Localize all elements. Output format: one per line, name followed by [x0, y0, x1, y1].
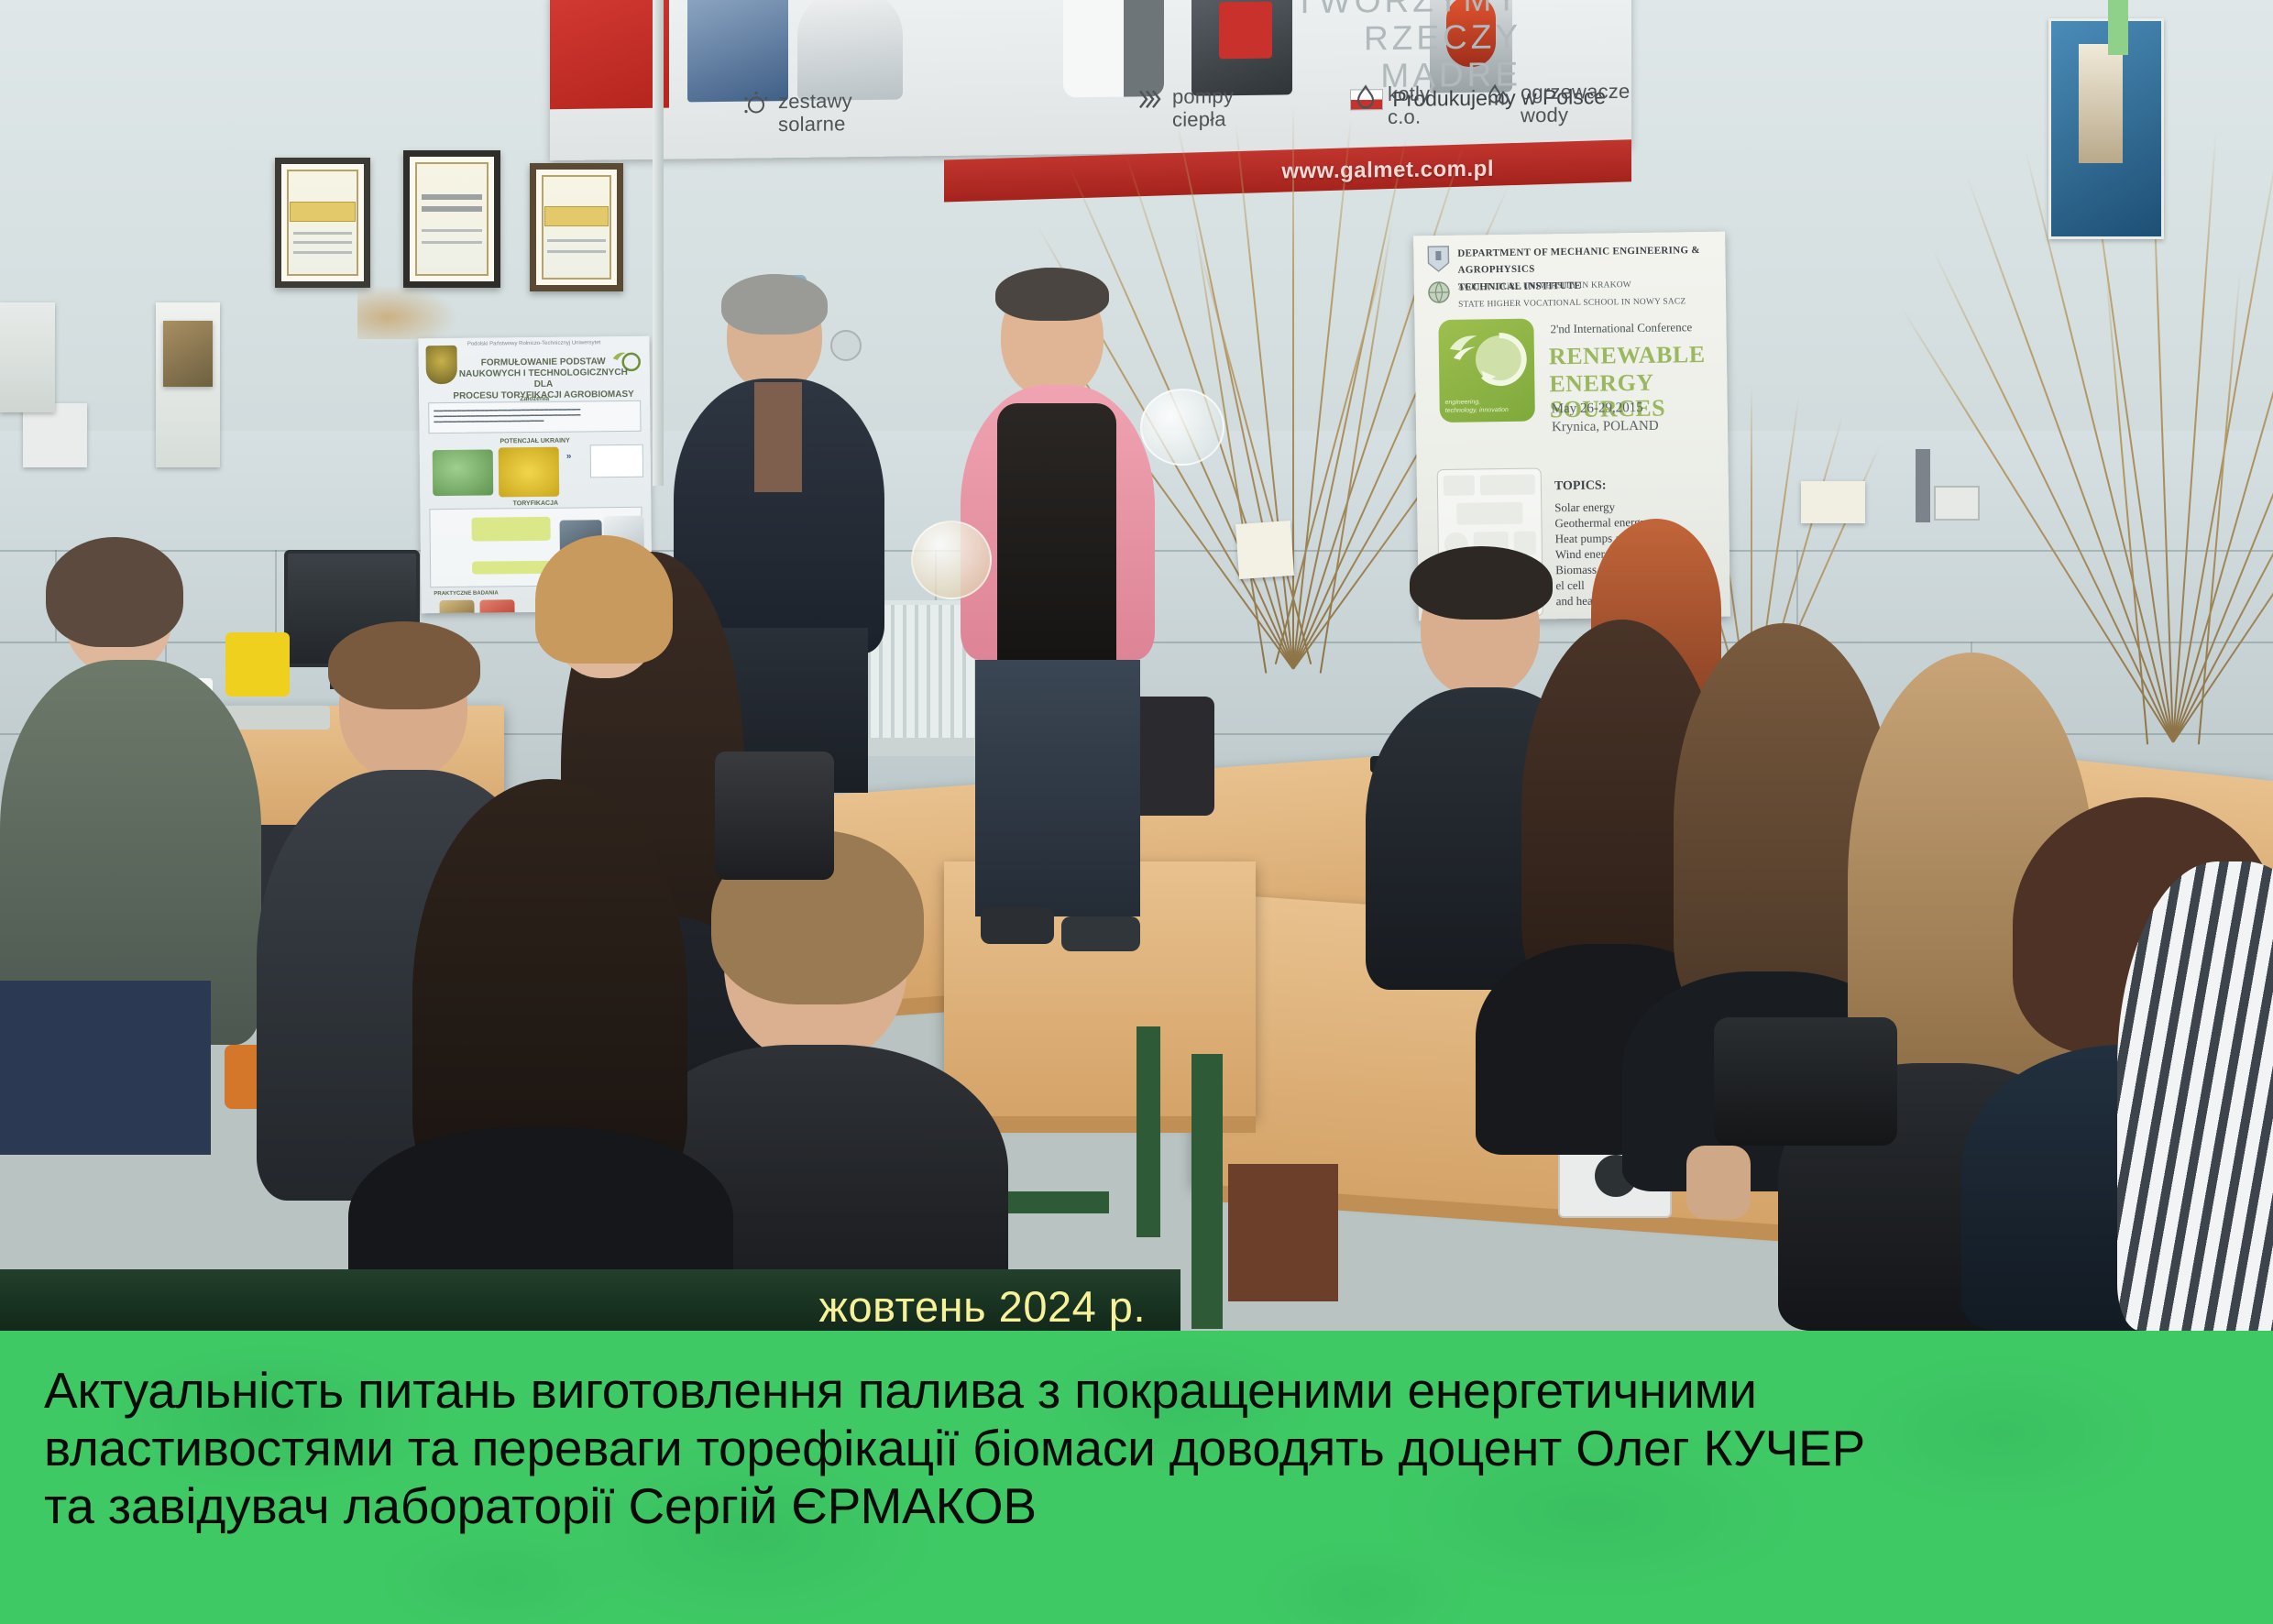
topic-item: Solar energy	[1554, 499, 1646, 515]
seated-attendee-foreground	[2117, 861, 2273, 1331]
person-hair	[535, 535, 673, 664]
recycle-arrows-icon	[1470, 330, 1530, 390]
caption-line-3: та завідувач лабораторії Сергій ЄРМАКОВ	[44, 1477, 2236, 1535]
sponsor-logo	[1480, 475, 1535, 496]
poster-section-heading: PRAKTYCZNE BADANIA	[434, 590, 498, 597]
conference-edition: 2'nd International Conference	[1550, 320, 1692, 336]
galmet-product-item: ogrzewacze wody	[1485, 80, 1630, 127]
table-rail	[999, 1191, 1109, 1213]
person-hair	[46, 537, 183, 647]
diploma-inner	[287, 170, 358, 276]
galmet-product-list: zestawy solarne pompy ciepła	[550, 80, 1631, 153]
conference-place: Krynica, POLAND	[1552, 418, 1659, 436]
banner-product-image	[797, 0, 903, 101]
person-striped-shirt	[2117, 861, 2273, 1331]
event-photograph: TWORZYMY RZECZY MĄDRE Produkujemy w Pols…	[0, 0, 2273, 1331]
power-socket	[1934, 486, 1980, 521]
diploma-text-line	[422, 206, 482, 212]
galmet-product-label: zestawy solarne	[778, 89, 852, 136]
caption-line-2: властивостями та переваги торефікації бі…	[44, 1420, 2236, 1477]
banner-product-image	[1063, 0, 1164, 97]
banner-product-image	[1219, 2, 1272, 60]
sponsor-logo	[1456, 502, 1522, 525]
wall-note	[1801, 481, 1865, 523]
sun-icon	[742, 90, 770, 121]
diploma-frame	[275, 158, 370, 288]
date-label: жовтень 2024 р.	[819, 1284, 1146, 1330]
conference-logo-caption: engineering, technology, innovation	[1445, 398, 1530, 415]
ukraine-map-green	[433, 449, 494, 496]
seated-attendee	[0, 550, 275, 1155]
arrow-icon: »	[566, 455, 572, 460]
workshop-photo-figure	[2079, 44, 2123, 163]
camera	[1714, 1017, 1897, 1146]
galmet-slogan-line2: RZECZY	[1294, 17, 1521, 58]
wall-hook	[2108, 0, 2128, 55]
seated-attendee-foreground	[348, 807, 733, 1331]
handbag	[715, 752, 834, 880]
diploma-text-line	[422, 241, 482, 244]
wall-note	[1235, 521, 1294, 579]
person-hair	[328, 621, 480, 709]
person-hair	[721, 274, 828, 335]
table-leg	[1228, 1164, 1338, 1301]
diploma-frame	[403, 150, 500, 288]
glass-flask-held-up	[1140, 389, 1224, 466]
diploma-ribbon	[544, 206, 609, 226]
conference-org-2: TECHNICAL INSTITUTE STATE HIGHER VOCATIO…	[1427, 275, 1720, 312]
diploma-inner	[542, 175, 611, 280]
hand	[1686, 1146, 1751, 1219]
table-leg	[1191, 1054, 1223, 1329]
person-vest	[997, 403, 1116, 678]
diploma-text-line	[293, 232, 353, 235]
diploma-text-line	[293, 251, 353, 254]
glass-flask-with-biomass	[911, 521, 992, 599]
waterdrop-icon	[1485, 81, 1512, 112]
diploma-frame	[530, 163, 623, 291]
conference-title-line1: RENEWABLE	[1549, 342, 1706, 369]
globe-seal-icon	[1427, 279, 1451, 306]
poster-diagram	[471, 517, 550, 542]
banner-product-image	[687, 0, 788, 102]
sponsor-logo	[1444, 475, 1475, 495]
diploma-text-line	[422, 229, 482, 232]
wall-note	[0, 302, 55, 412]
diploma-text-line	[422, 194, 482, 200]
shield-icon	[1426, 245, 1450, 272]
diploma-inner	[415, 162, 489, 276]
person-hair	[995, 268, 1109, 321]
slide-root: TWORZYMY RZECZY MĄDRE Produkujemy w Pols…	[0, 0, 2273, 1624]
topics-heading: TOPICS:	[1554, 478, 1646, 494]
person-hair	[1410, 546, 1553, 620]
wall-decoration	[357, 284, 458, 339]
poster-inset-box	[590, 444, 643, 478]
wall-cable	[1916, 449, 1930, 522]
diploma-text-line	[293, 241, 353, 244]
galmet-product-label: ogrzewacze wody	[1521, 80, 1630, 126]
galmet-product-item: zestawy solarne	[742, 89, 852, 136]
caption-text: Актуальність питань виготовлення палива …	[0, 1331, 2273, 1535]
person-shoe	[1061, 916, 1140, 951]
person-jeans	[0, 981, 211, 1155]
diploma-ribbon	[290, 202, 356, 222]
conference-logo: engineering, technology, innovation	[1438, 319, 1535, 422]
caption-line-1: Актуальність питань виготовлення палива …	[44, 1362, 2236, 1420]
wall-note	[23, 403, 87, 467]
diploma-text-line	[547, 250, 605, 253]
ukraine-map-yellow	[499, 447, 560, 498]
galmet-promo-banner: TWORZYMY RZECZY MĄDRE Produkujemy w Pols…	[550, 0, 1631, 160]
poster-header: Podolski Państwowy Rolniczo-Technicznyj …	[455, 340, 612, 348]
curtain-pole	[653, 0, 664, 486]
wall-calendar-image	[163, 321, 213, 387]
conference-org-2-text: TECHNICAL INSTITUTE STATE HIGHER VOCATIO…	[1458, 275, 1686, 311]
diploma-text-line	[547, 239, 605, 242]
poster-photo	[479, 599, 514, 613]
wall-joint-line	[275, 550, 277, 642]
poster-body-text: ▬▬▬▬▬▬▬▬▬▬▬▬▬▬▬▬▬▬▬▬▬▬▬▬▬▬▬▬▬▬▬▬▬▬▬▬▬▬▬▬…	[434, 406, 635, 424]
conference-dates: May 26-29,2015	[1552, 400, 1643, 417]
caption-band: Актуальність питань виготовлення палива …	[0, 1331, 2273, 1624]
person-shirt	[754, 382, 802, 492]
poster-photo	[439, 600, 474, 614]
